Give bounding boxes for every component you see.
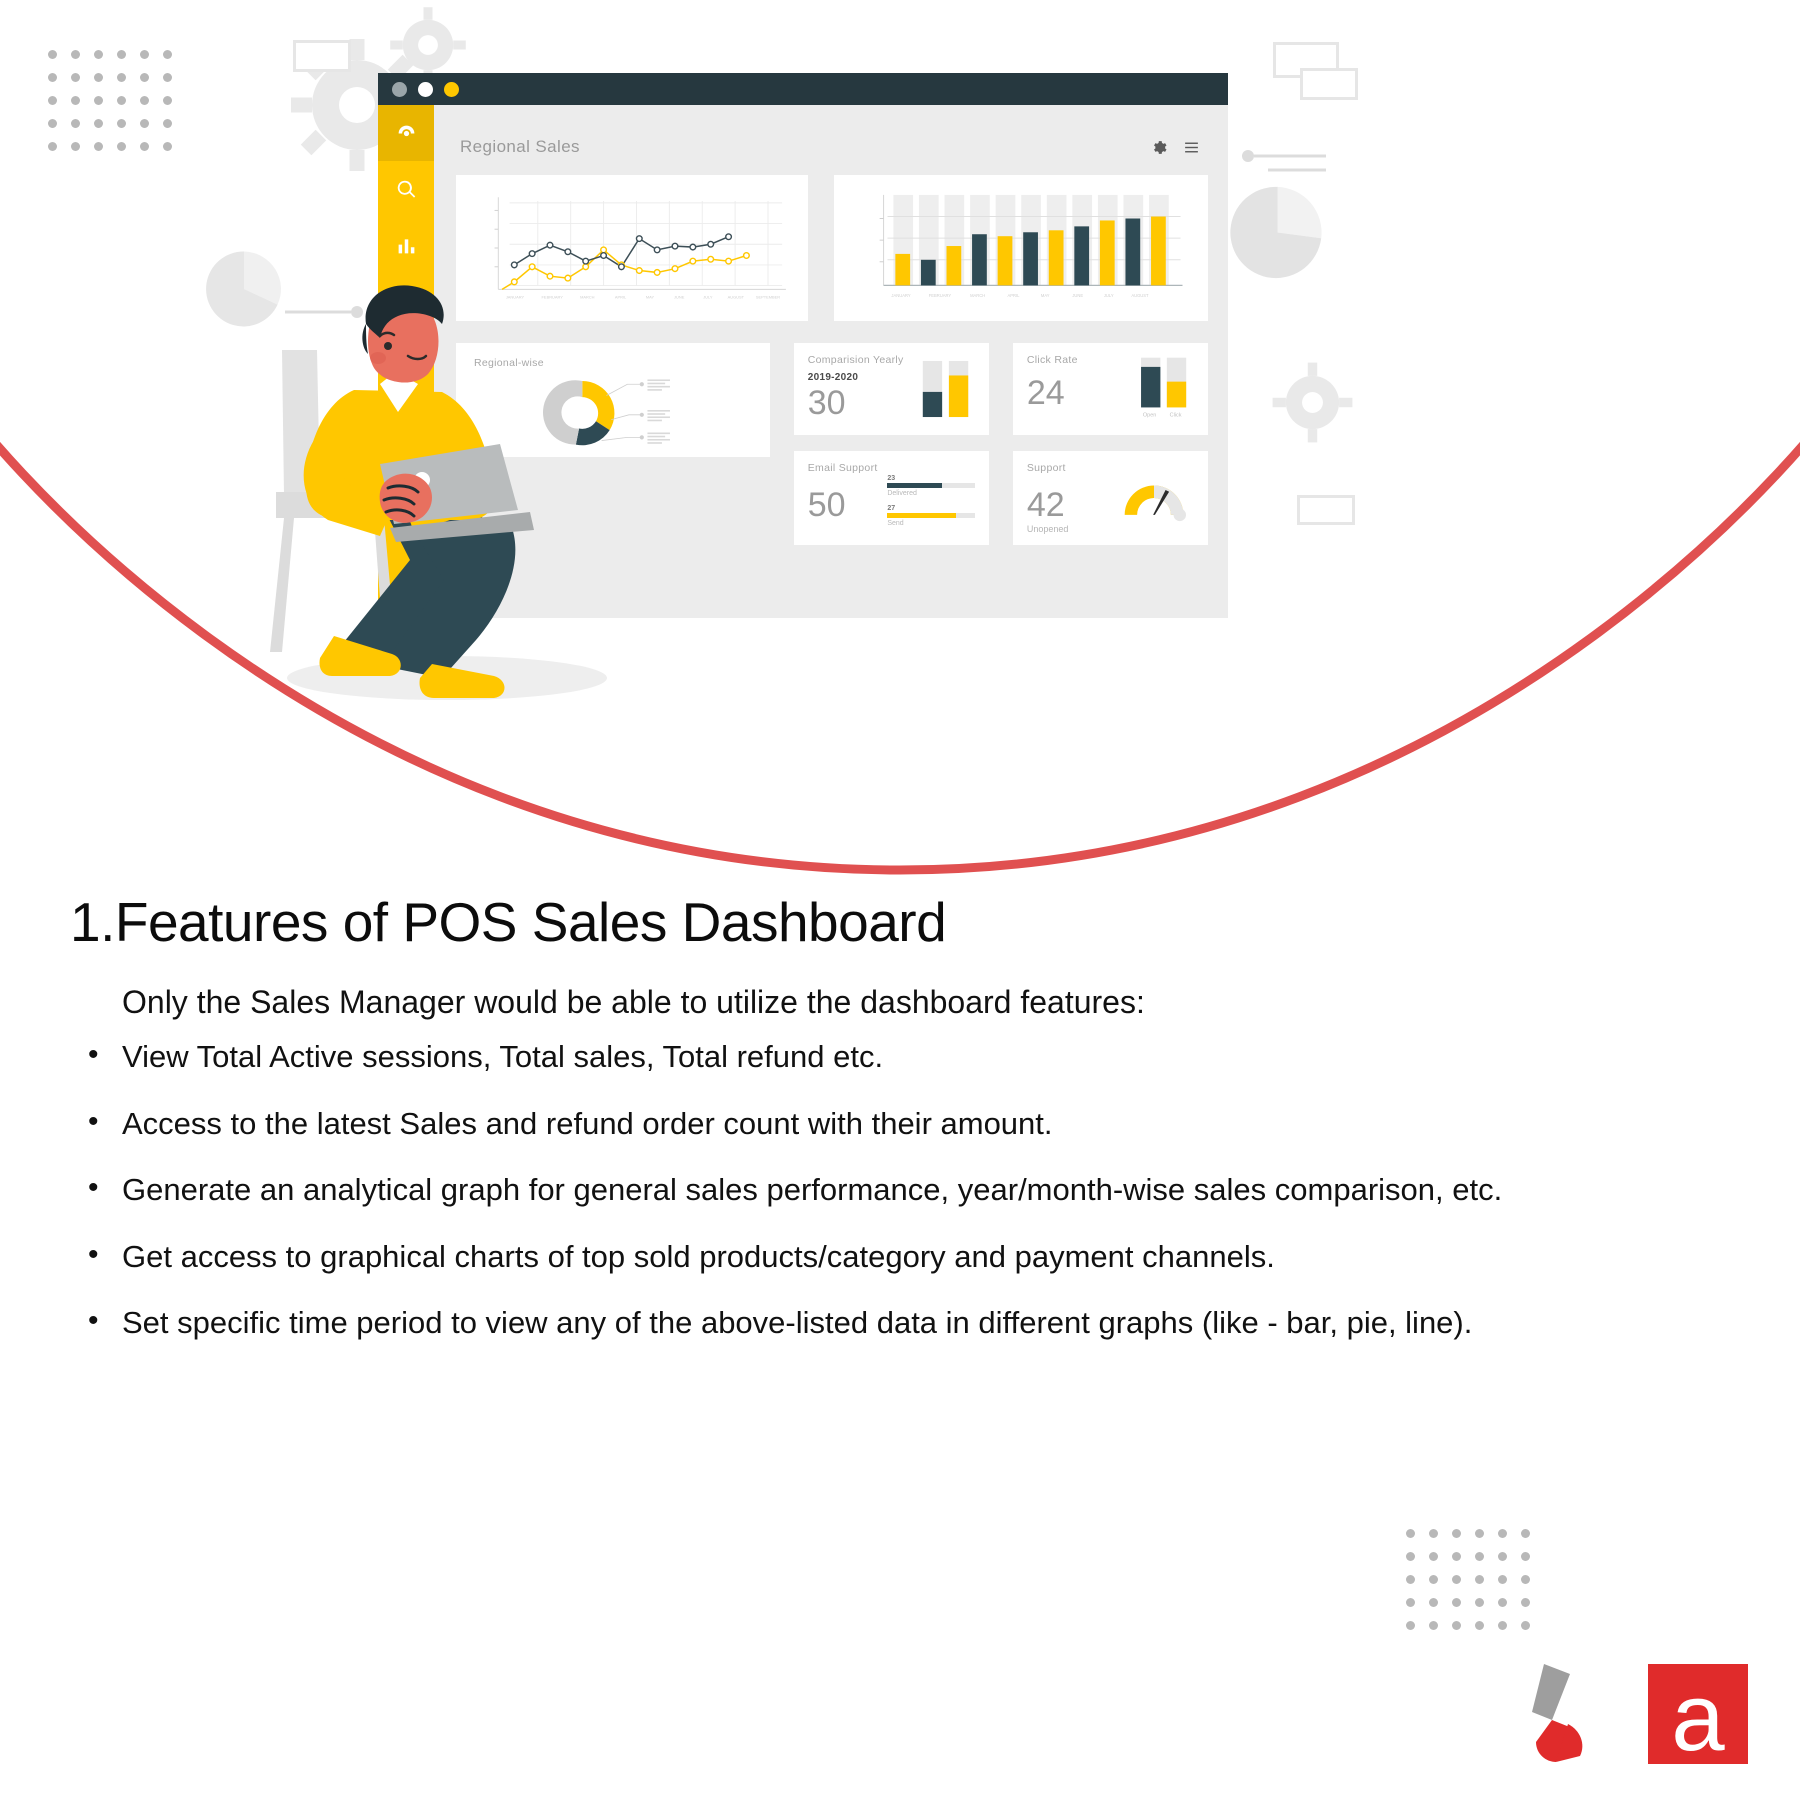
svg-text:JANUARY: JANUARY	[891, 293, 910, 298]
svg-text:JUNE: JUNE	[674, 295, 685, 300]
svg-text:APRIL: APRIL	[1007, 293, 1020, 298]
window-dot-grey[interactable]	[392, 82, 407, 97]
article-intro: Only the Sales Manager would be able to …	[122, 984, 1730, 1021]
svg-text:JULY: JULY	[703, 295, 713, 300]
red-arc-decoration	[0, 400, 1800, 920]
comparison-card-subtitle: 2019-2020	[808, 372, 917, 383]
bar-chart: JANUARYFEBRUARYMARCH APRILMAYJUNE JULYAU…	[850, 189, 1192, 307]
hamburger-menu-icon[interactable]	[1183, 139, 1200, 156]
dashboard-header: Regional Sales	[456, 123, 1208, 171]
browser-titlebar	[378, 73, 1228, 105]
bar-chart-card: JANUARYFEBRUARYMARCH APRILMAYJUNE JULYAU…	[834, 175, 1208, 321]
wireframe-rect-decoration	[293, 40, 351, 72]
svg-text:JUNE: JUNE	[1072, 293, 1083, 298]
logo-mark: a	[1671, 1664, 1725, 1768]
dot-grid-decoration-top-left	[48, 50, 172, 151]
list-item: Generate an analytical graph for general…	[70, 1172, 1730, 1209]
window-dot-white[interactable]	[418, 82, 433, 97]
svg-text:AUGUST: AUGUST	[1131, 293, 1149, 298]
dashboard-icon	[396, 123, 417, 144]
list-item: Get access to graphical charts of top so…	[70, 1239, 1730, 1276]
pie-chart-decoration-icon	[1230, 185, 1325, 280]
window-dot-yellow[interactable]	[444, 82, 459, 97]
page-title: Regional Sales	[460, 137, 580, 157]
sidebar-item-search[interactable]	[378, 161, 434, 217]
svg-text:SEPTEMBER: SEPTEMBER	[756, 295, 780, 300]
search-icon	[396, 179, 417, 200]
article-title: 1.Features of POS Sales Dashboard	[70, 890, 1730, 954]
list-item: View Total Active sessions, Total sales,…	[70, 1039, 1730, 1076]
click-rate-card-title: Click Rate	[1027, 354, 1136, 366]
list-item: Set specific time period to view any of …	[70, 1305, 1730, 1342]
pointer-line-decoration	[1240, 140, 1330, 180]
sidebar-item-dashboard[interactable]	[378, 105, 434, 161]
comparison-card-title: Comparision Yearly	[808, 354, 917, 366]
svg-text:FEBRUARY: FEBRUARY	[928, 293, 951, 298]
gear-icon[interactable]	[1150, 139, 1167, 156]
brand-logo[interactable]: a	[1530, 1658, 1760, 1768]
svg-text:MARCH: MARCH	[970, 293, 985, 298]
article-section: 1.Features of POS Sales Dashboard Only t…	[0, 890, 1800, 1372]
wireframe-rect-decoration	[1300, 68, 1358, 100]
dot-grid-decoration-bottom-right	[1406, 1529, 1530, 1630]
feature-bullet-list: View Total Active sessions, Total sales,…	[70, 1039, 1730, 1342]
hero-illustration: Regional Sales	[0, 0, 1800, 900]
svg-text:AUGUST: AUGUST	[728, 295, 745, 300]
svg-text:MAY: MAY	[1040, 293, 1049, 298]
svg-text:MAY: MAY	[646, 295, 655, 300]
svg-text:JULY: JULY	[1103, 293, 1113, 298]
analytics-icon	[396, 235, 417, 256]
list-item: Access to the latest Sales and refund or…	[70, 1106, 1730, 1143]
sidebar-item-analytics[interactable]	[378, 217, 434, 273]
